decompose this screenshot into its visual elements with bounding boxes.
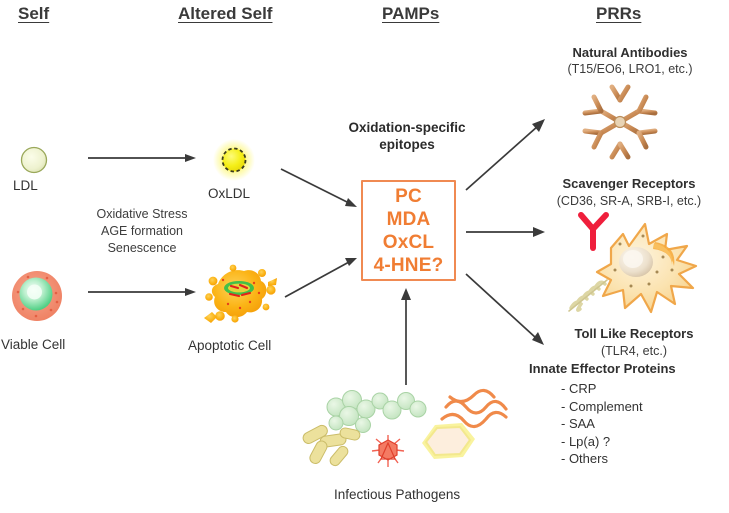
infectious-pathogens-label: Infectious Pathogens <box>334 487 460 502</box>
effector-item-complement: - Complement <box>561 398 643 416</box>
virus-particle <box>372 435 404 467</box>
scavenger-receptors-title: Scavenger Receptors <box>530 176 728 191</box>
arrow-oxldl-to-pamps <box>281 169 357 207</box>
bacilli-rods <box>301 423 361 467</box>
effector-item-saa: - SAA <box>561 415 643 433</box>
arrow-ldl-to-oxldl <box>88 154 196 162</box>
pamps-box: PC MDA OxCL 4-HNE? <box>361 180 456 281</box>
hexagonal-pathogen <box>422 423 475 459</box>
cocci-cluster <box>327 391 426 433</box>
natural-antibodies-subtitle: (T15/EO6, LRO1, etc.) <box>540 62 720 76</box>
arrow-pathogens-to-pamps <box>401 288 411 385</box>
antibody-pentamer <box>574 82 666 162</box>
scavenger-receptors-subtitle: (CD36, SR-A, SRB-I, etc.) <box>530 194 728 208</box>
pamp-item-oxcl: OxCL <box>383 231 434 254</box>
arrow-apoptotic-to-pamps <box>285 258 357 297</box>
spirochetes <box>442 390 506 426</box>
toll-like-receptor-icon <box>569 280 607 311</box>
toll-like-receptors-subtitle: (TLR4, etc.) <box>540 344 728 358</box>
macrophage-cell <box>553 212 703 320</box>
effector-item-crp: - CRP <box>561 380 643 398</box>
effector-item-lpa: - Lp(a) ? <box>561 433 643 451</box>
infectious-pathogens-group <box>300 385 515 485</box>
epitopes-caption-line2: epitopes <box>331 136 483 153</box>
arrow-viable-to-apoptotic <box>88 288 196 296</box>
arrow-pamps-to-scavenger-receptors <box>466 227 545 237</box>
pamp-item-4hne: 4-HNE? <box>374 254 444 277</box>
toll-like-receptors-title: Toll Like Receptors <box>540 326 728 341</box>
pamp-item-mda: MDA <box>387 208 431 231</box>
epitopes-caption-line1: Oxidation-specific <box>331 119 483 136</box>
innate-effector-proteins-list: - CRP - Complement - SAA - Lp(a) ? - Oth… <box>561 380 643 468</box>
figure-canvas: Self Altered Self PAMPs PRRs LDL <box>0 0 729 513</box>
scavenger-receptor-icon <box>581 215 606 248</box>
natural-antibodies-title: Natural Antibodies <box>540 45 720 60</box>
pamp-item-pc: PC <box>395 185 422 208</box>
innate-effector-proteins-title: Innate Effector Proteins <box>529 361 676 376</box>
arrow-pamps-to-innate-effector-proteins <box>466 274 544 345</box>
effector-item-others: - Others <box>561 450 643 468</box>
oxidation-specific-epitopes-caption: Oxidation-specific epitopes <box>331 119 483 153</box>
